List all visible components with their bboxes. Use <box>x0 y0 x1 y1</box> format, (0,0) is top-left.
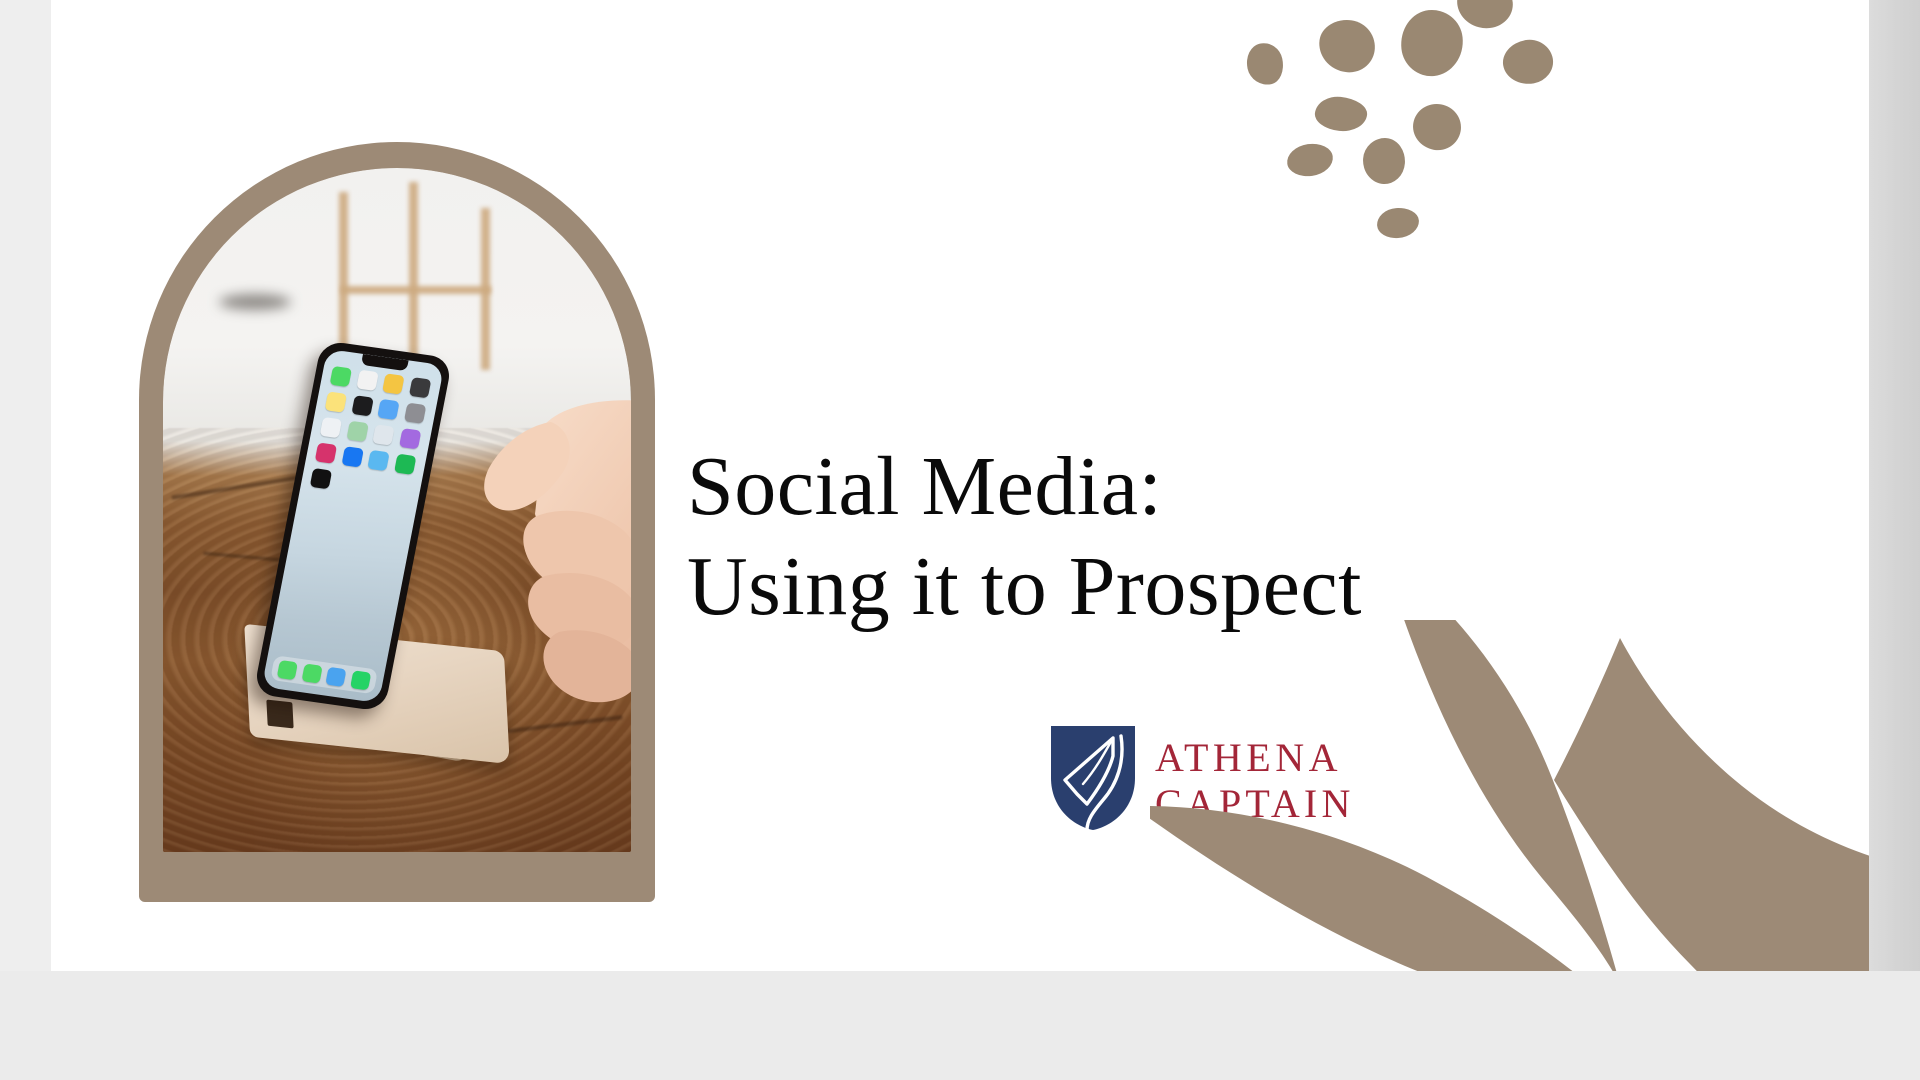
app-grid <box>310 366 433 501</box>
phone-dock <box>270 655 378 694</box>
twitter-icon <box>367 450 389 471</box>
facebook-icon <box>341 446 363 467</box>
spotify-icon <box>394 454 416 475</box>
tiktok-icon <box>310 468 332 489</box>
brand-logo: ATHENA CAPTAIN <box>1047 722 1355 839</box>
organic-dot <box>1409 100 1464 154</box>
organic-dot <box>1361 137 1406 186</box>
podcasts-icon <box>398 428 420 449</box>
organic-dot <box>1285 141 1335 179</box>
whatsapp-icon <box>350 670 371 690</box>
reminders-icon <box>372 424 394 445</box>
chair-leg-icon <box>409 182 418 364</box>
title-line-2: Using it to Prospect <box>687 544 1687 630</box>
logo-word-athena: ATHENA <box>1155 738 1355 778</box>
hero-photo <box>163 168 631 852</box>
notes-icon <box>325 391 347 412</box>
files-icon <box>320 417 342 438</box>
presentation-slide: Social Media: Using it to Prospect ATHEN… <box>51 0 1869 971</box>
phone-notch-icon <box>361 354 409 371</box>
safari-icon <box>326 666 347 686</box>
backdrop-left-margin <box>0 0 51 1080</box>
logo-wordmark: ATHENA CAPTAIN <box>1155 738 1355 824</box>
phone-icon <box>277 660 298 680</box>
logo-word-captain: CAPTAIN <box>1155 784 1355 824</box>
messages-dock-icon <box>301 663 322 683</box>
organic-dot <box>1500 36 1557 88</box>
backdrop-right-margin <box>1869 0 1920 1080</box>
organic-dot <box>1452 0 1518 34</box>
organic-dot <box>1243 40 1287 89</box>
maps-icon <box>346 421 368 442</box>
chair-leg-icon <box>339 192 348 360</box>
settings-icon <box>403 402 425 423</box>
chair-rail-icon <box>341 286 491 294</box>
phone-stand-notch <box>266 700 293 729</box>
slide-title: Social Media: Using it to Prospect <box>687 444 1687 629</box>
organic-dot <box>1398 7 1467 79</box>
instagram-icon <box>315 442 337 463</box>
clock-icon <box>351 395 373 416</box>
organic-dot <box>1313 94 1368 133</box>
slide-stage: Social Media: Using it to Prospect ATHEN… <box>0 0 1920 1080</box>
floor-shadow <box>219 294 291 310</box>
arch-photo-frame <box>139 142 655 902</box>
title-line-1: Social Media: <box>687 444 1687 530</box>
organic-dot <box>1316 16 1379 75</box>
calendar-icon <box>356 370 378 391</box>
organic-dot <box>1376 207 1420 240</box>
appstore-icon <box>377 399 399 420</box>
messages-icon <box>330 366 352 387</box>
backdrop-bottom-margin <box>0 971 1920 1080</box>
photos-icon <box>382 373 404 394</box>
shield-quill-icon <box>1047 722 1139 839</box>
hand-pointing <box>425 364 631 784</box>
